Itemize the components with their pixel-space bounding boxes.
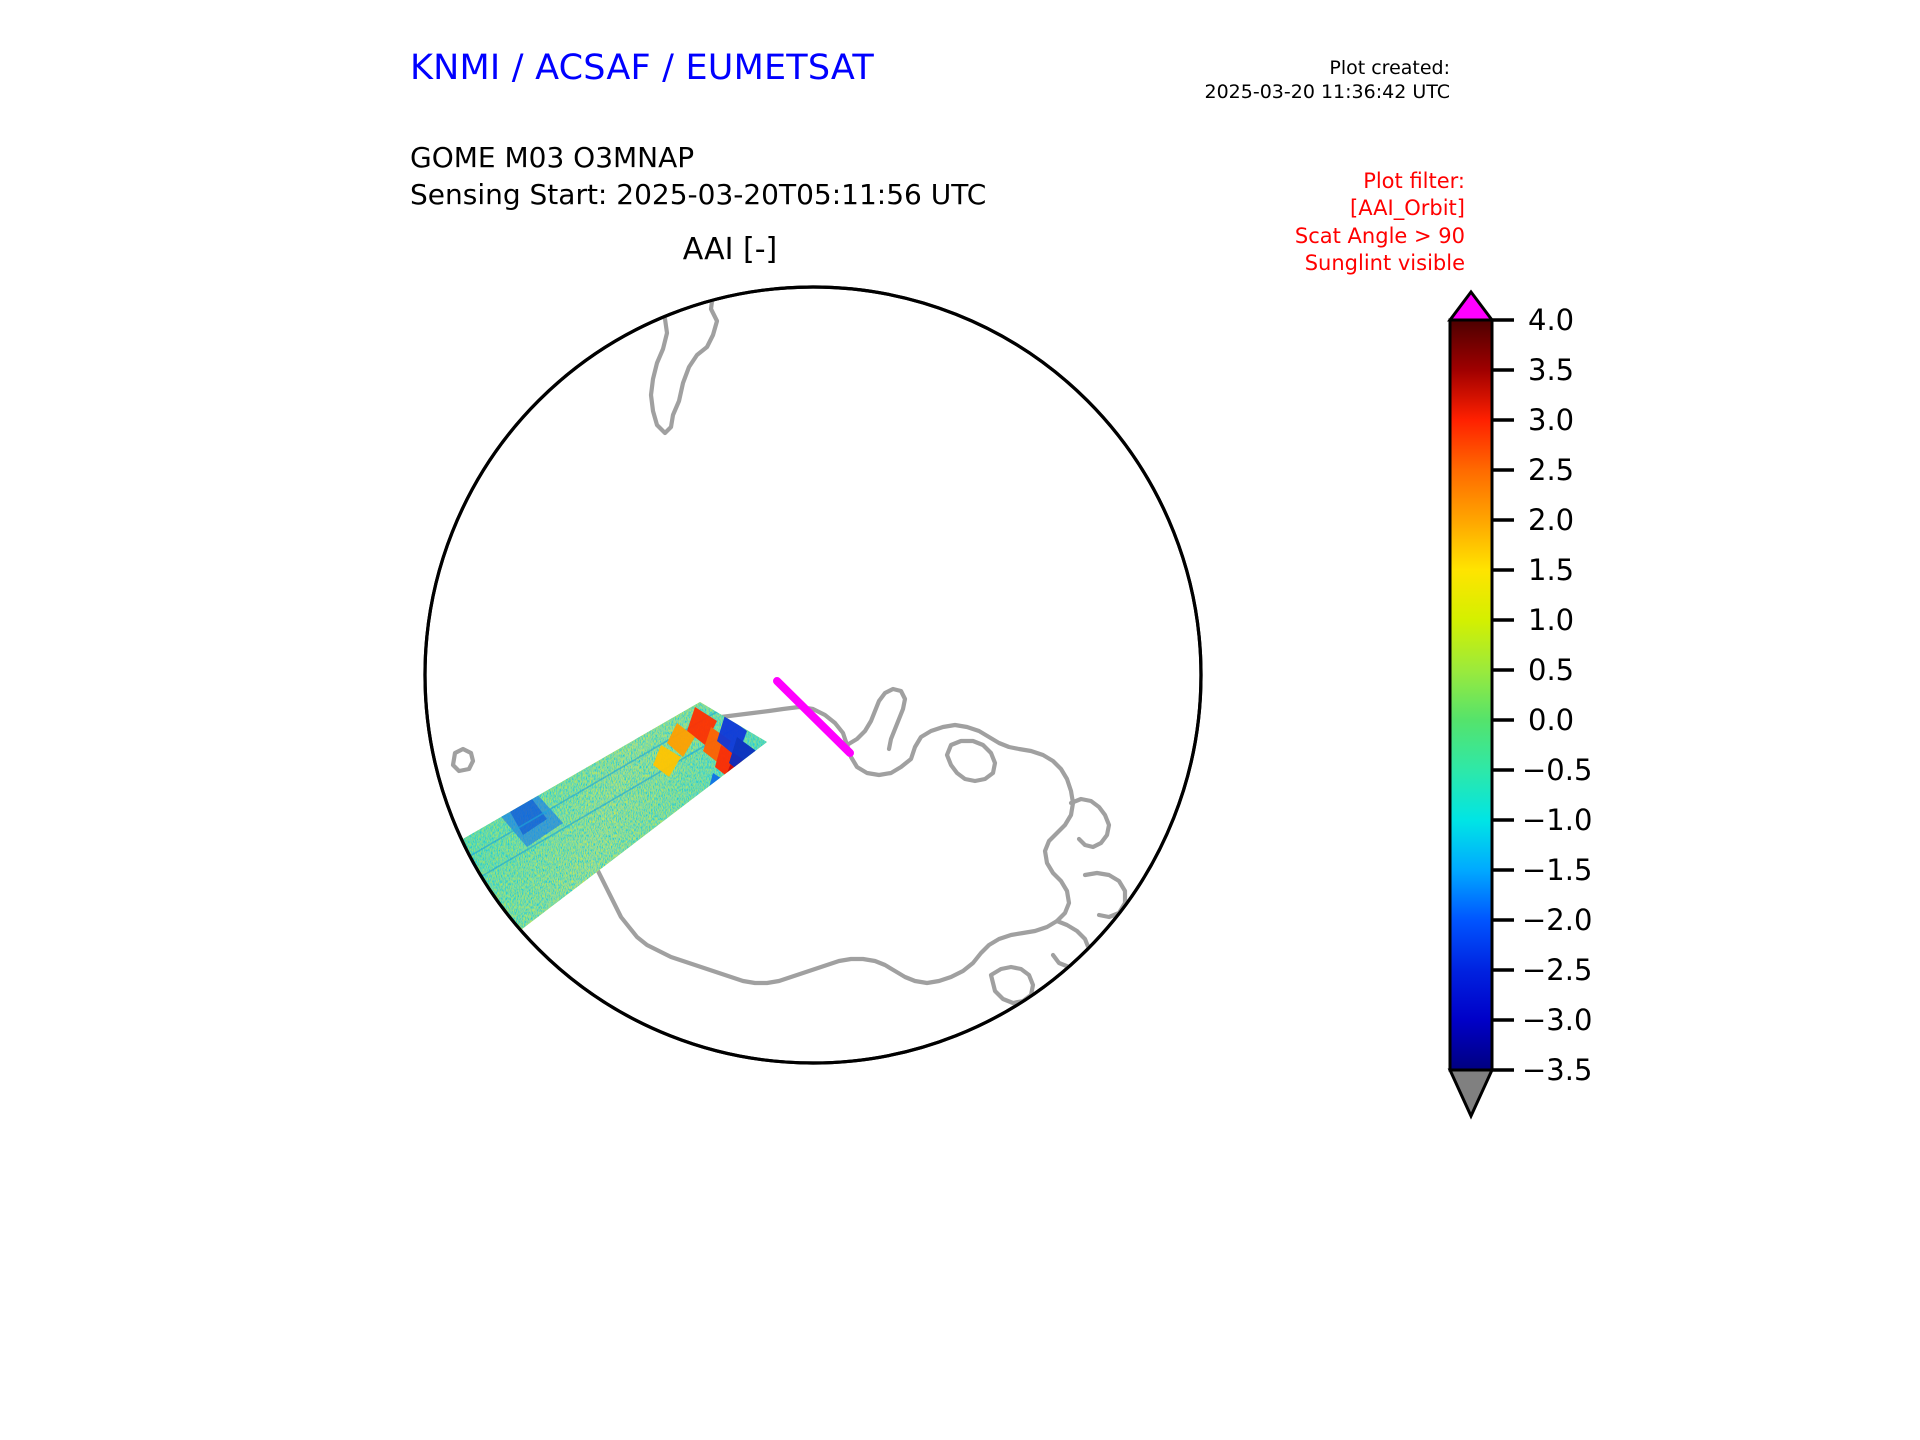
plot-created-label: Plot created: (1205, 56, 1451, 80)
cb-label-0: 4.0 (1528, 303, 1574, 337)
colorbar-tick-labels: 4.0 3.5 3.0 2.5 2.0 1.5 1.0 0.5 0.0 −0.5… (1522, 303, 1592, 1087)
plot-filter-block: Plot filter: [AAI_Orbit] Scat Angle > 90… (1295, 168, 1465, 277)
colorbar-panel: 4.0 3.5 3.0 2.5 2.0 1.5 1.0 0.5 0.0 −0.5… (1430, 282, 1760, 1302)
colorbar-under-arrow (1450, 1070, 1492, 1116)
cb-label-14: −3.0 (1522, 1003, 1592, 1037)
cb-label-7: 0.5 (1528, 653, 1574, 687)
colorbar-svg: 4.0 3.5 3.0 2.5 2.0 1.5 1.0 0.5 0.0 −0.5… (1430, 282, 1760, 1302)
cb-label-10: −1.0 (1522, 803, 1592, 837)
organisation-title: KNMI / ACSAF / EUMETSAT (410, 48, 874, 88)
cb-label-4: 2.0 (1528, 503, 1574, 537)
map-panel (395, 275, 1425, 1305)
cb-label-8: 0.0 (1528, 703, 1574, 737)
instrument-block: GOME M03 O3MNAP Sensing Start: 2025-03-2… (410, 140, 986, 214)
plot-filter-scat-angle: Scat Angle > 90 (1295, 223, 1465, 250)
cb-label-2: 3.0 (1528, 403, 1574, 437)
cb-label-3: 2.5 (1528, 453, 1574, 487)
globe-limb-circle (425, 287, 1201, 1063)
colorbar-over-arrow (1450, 292, 1492, 320)
cb-label-13: −2.5 (1522, 953, 1592, 987)
plot-filter-sunglint: Sunglint visible (1295, 250, 1465, 277)
map-svg (395, 275, 1425, 1305)
cb-label-11: −1.5 (1522, 853, 1592, 887)
cb-label-15: −3.5 (1522, 1053, 1592, 1087)
cb-label-12: −2.0 (1522, 903, 1592, 937)
sensing-start-line: Sensing Start: 2025-03-20T05:11:56 UTC (410, 177, 986, 214)
plot-filter-name: [AAI_Orbit] (1295, 195, 1465, 222)
cb-label-5: 1.5 (1528, 553, 1574, 587)
plot-created-block: Plot created: 2025-03-20 11:36:42 UTC (1205, 56, 1451, 105)
cb-label-6: 1.0 (1528, 603, 1574, 637)
cb-label-9: −0.5 (1522, 753, 1592, 787)
colorbar-ticks (1492, 320, 1514, 1070)
plot-filter-label: Plot filter: (1295, 168, 1465, 195)
plot-created-timestamp: 2025-03-20 11:36:42 UTC (1205, 80, 1451, 104)
variable-title: AAI [-] (400, 232, 1060, 267)
instrument-line: GOME M03 O3MNAP (410, 140, 986, 177)
colorbar-gradient (1450, 320, 1492, 1070)
cb-label-1: 3.5 (1528, 353, 1574, 387)
plot-page: KNMI / ACSAF / EUMETSAT Plot created: 20… (0, 0, 1920, 1440)
